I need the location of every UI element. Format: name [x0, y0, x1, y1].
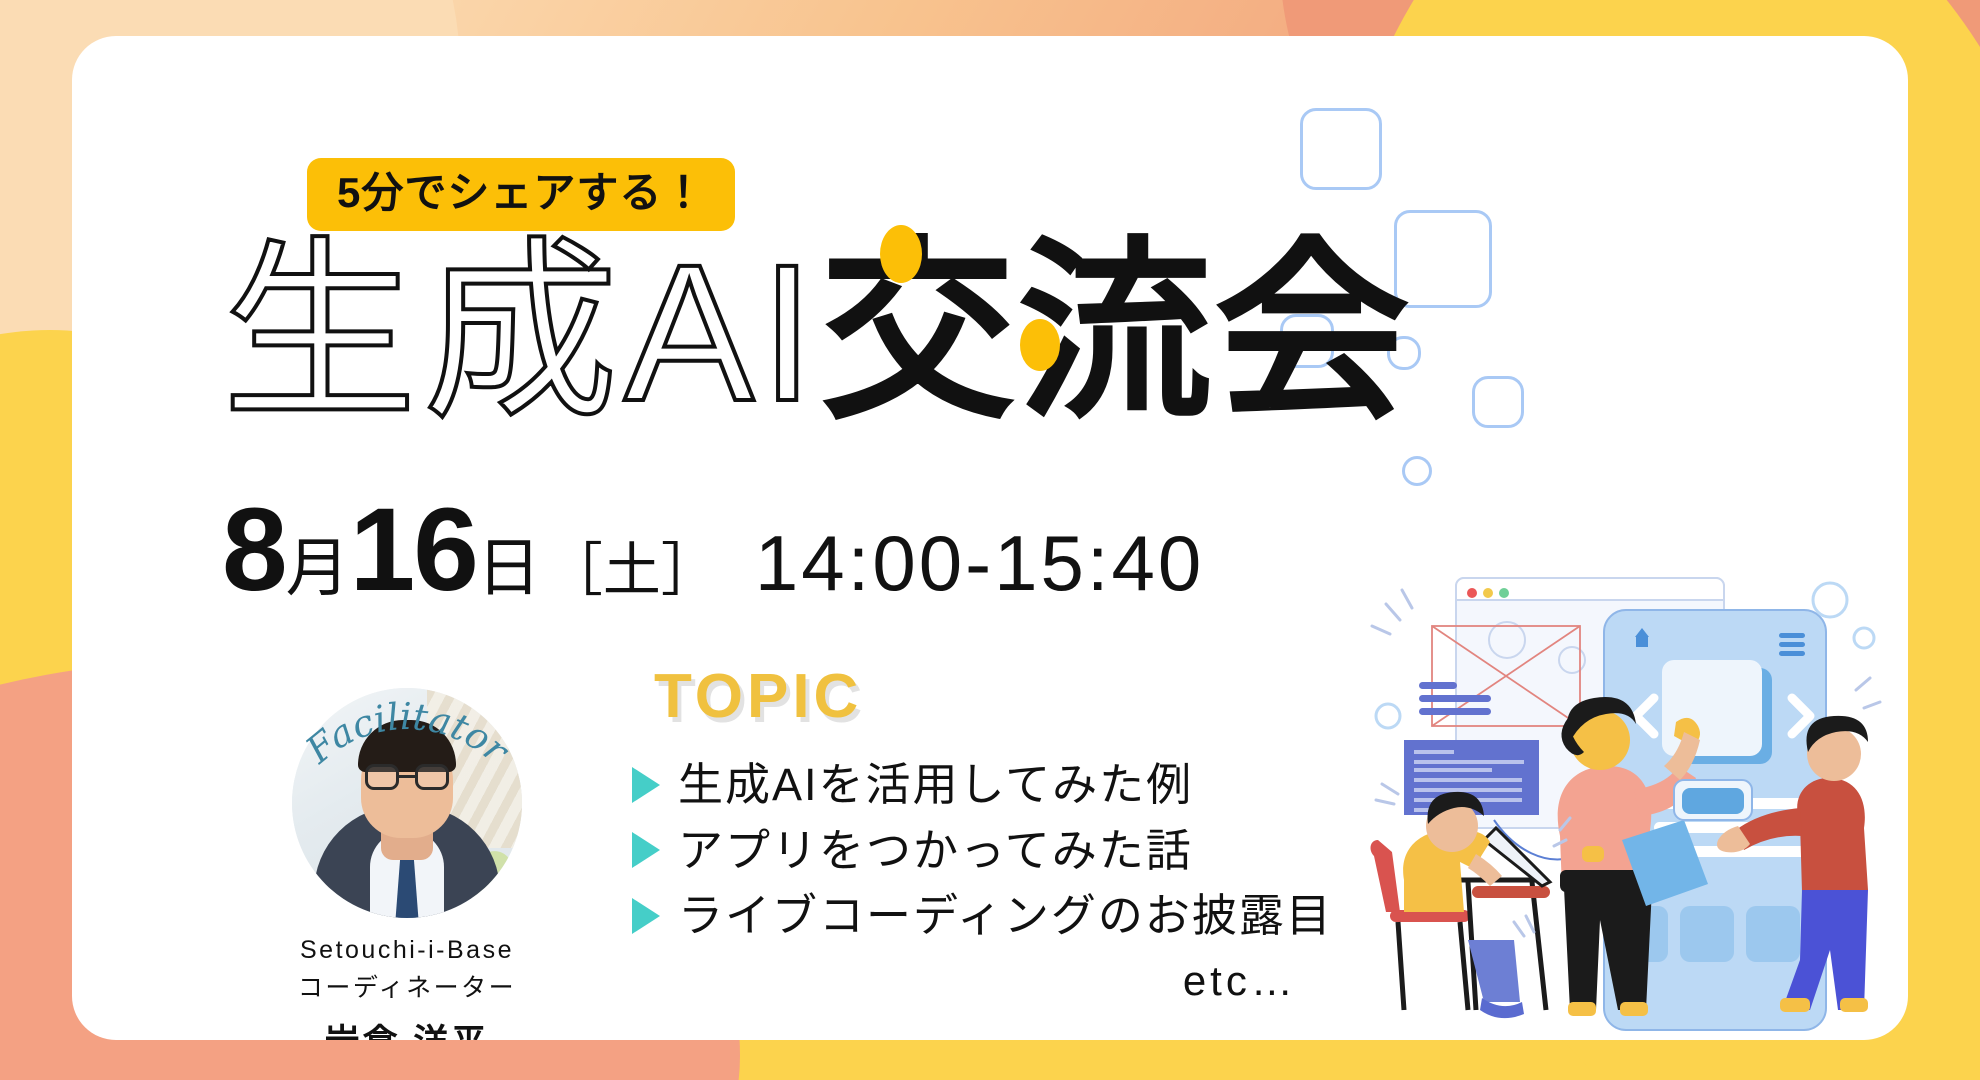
topic-item-label: アプリをつかってみた話: [678, 826, 1193, 876]
tagline-badge: 5分でシェアする！: [307, 158, 735, 231]
facilitator-organization: Setouchi-i-Base: [247, 936, 567, 965]
date-day-unit: 日: [477, 536, 541, 600]
page-title: 生成AI 交流会: [222, 241, 1411, 426]
decorative-square-5: [1472, 376, 1524, 428]
triangle-bullet-icon: [632, 832, 660, 868]
topic-etc-label: etc…: [632, 957, 1333, 1005]
facilitator-name: 岩倉 洋平: [247, 1014, 567, 1040]
title-solid-part: 交流会: [820, 241, 1411, 426]
triangle-bullet-icon: [632, 767, 660, 803]
team-building-web-app-illustration: [1364, 540, 1884, 1040]
topic-item: アプリをつかってみた話: [632, 826, 1333, 876]
browser-dot-green: [1499, 588, 1509, 598]
triangle-bullet-icon: [632, 898, 660, 934]
title-accent-dot-kou: [880, 225, 922, 283]
date-day-of-week: ［土］: [545, 542, 719, 600]
topic-item-label: ライブコーディングのお披露目: [678, 891, 1333, 941]
date-day-number: 16: [350, 491, 477, 609]
topic-item: ライブコーディングのお披露目: [632, 891, 1333, 941]
event-time: 14:00-15:40: [755, 524, 1204, 602]
illus-hamburger-icon: [1779, 633, 1805, 656]
date-month-number: 8: [222, 491, 286, 609]
facilitator-role: コーディネーター: [247, 968, 567, 1004]
topic-heading: TOPIC: [654, 661, 1333, 732]
event-datetime: 8 月 16 日 ［土］ 14:00-15:40: [222, 491, 1204, 609]
browser-dot-yellow: [1483, 588, 1493, 598]
svg-text:Facilitator: Facilitator: [297, 695, 518, 773]
date-month-unit: 月: [286, 536, 350, 600]
decorative-square-6: [1402, 456, 1432, 486]
topic-item-label: 生成AIを活用してみた例: [678, 760, 1193, 810]
browser-dot-red: [1467, 588, 1477, 598]
topic-item: 生成AIを活用してみた例: [632, 760, 1333, 810]
facilitator-arc-text: Facilitator: [297, 695, 518, 773]
facilitator-photo-wrap: Facilitator: [292, 688, 522, 918]
title-outline-part: 生成AI: [222, 241, 820, 426]
content-card: 5分でシェアする！ 生成AI 交流会 8 月 16 日 ［土］ 14:00-15…: [72, 36, 1908, 1040]
topic-block: TOPIC 生成AIを活用してみた例アプリをつかってみた話ライブコーディングのお…: [632, 661, 1333, 1005]
topic-list: 生成AIを活用してみた例アプリをつかってみた話ライブコーディングのお披露目: [632, 760, 1333, 941]
poster-root: 5分でシェアする！ 生成AI 交流会 8 月 16 日 ［土］ 14:00-15…: [0, 0, 1980, 1080]
title-accent-dot-ryu: [1020, 319, 1060, 371]
facilitator-block: Facilitator Setouchi-i-Base コーディネーター 岩倉 …: [247, 646, 567, 1040]
facilitator-arc-label: Facilitator: [272, 686, 542, 836]
decorative-square-1: [1300, 108, 1382, 190]
